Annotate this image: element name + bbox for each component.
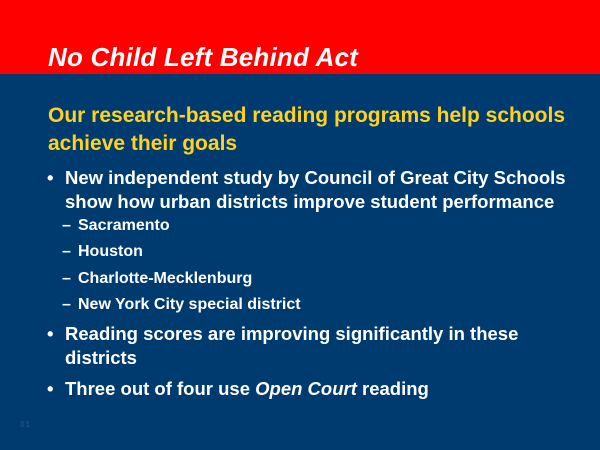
dash-marker-icon: – xyxy=(62,268,71,289)
list-item-label-prefix: Three out of four use xyxy=(65,378,255,399)
slide-body: Our research-based reading programs help… xyxy=(0,74,600,450)
list-item-label-suffix: reading xyxy=(357,378,429,399)
list-item-label: Sacramento xyxy=(78,217,170,234)
dash-marker-icon: – xyxy=(62,241,71,262)
list-item: – New York City special district xyxy=(0,294,600,315)
list-item: – Charlotte-Mecklenburg xyxy=(0,268,600,289)
bullet-marker-icon: • xyxy=(47,377,53,401)
slide-number: 81 xyxy=(20,421,31,429)
list-item-label: New York City special district xyxy=(78,296,301,313)
list-item-label-emphasis: Open Court xyxy=(255,378,357,399)
page-title: No Child Left Behind Act xyxy=(48,44,358,70)
list-item-label: Charlotte-Mecklenburg xyxy=(78,270,252,287)
bullet-marker-icon: • xyxy=(47,322,53,346)
section-heading: Our research-based reading programs help… xyxy=(48,102,578,158)
list-item: • Reading scores are improving significa… xyxy=(0,322,600,370)
list-item-label: Reading scores are improving significant… xyxy=(65,323,518,368)
title-banner: No Child Left Behind Act xyxy=(0,0,600,74)
list-item: – Houston xyxy=(0,241,600,262)
dash-marker-icon: – xyxy=(62,294,71,315)
bullet-marker-icon: • xyxy=(47,166,53,190)
presentation-slide: No Child Left Behind Act Our research-ba… xyxy=(0,0,600,450)
list-item-label: Houston xyxy=(78,243,143,260)
list-item-label: New independent study by Council of Grea… xyxy=(65,167,566,212)
list-item: • Three out of four use Open Court readi… xyxy=(0,377,600,401)
list-item: • New independent study by Council of Gr… xyxy=(0,166,600,214)
bullet-list: • New independent study by Council of Gr… xyxy=(0,166,600,402)
list-item: – Sacramento xyxy=(0,215,600,236)
dash-marker-icon: – xyxy=(62,215,71,236)
